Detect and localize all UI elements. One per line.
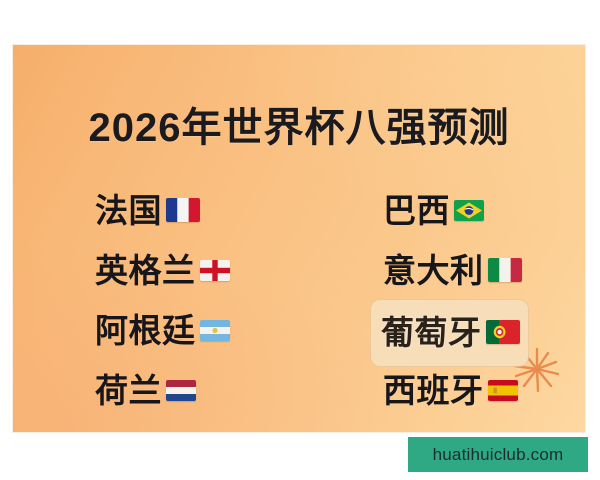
team-grid: 法国 巴西 <box>13 180 585 420</box>
team-name-label: 英格兰 <box>95 254 196 287</box>
flag-france-icon <box>166 198 200 222</box>
team-name-label: 意大利 <box>383 254 484 287</box>
team-name-label: 阿根廷 <box>95 314 196 347</box>
team-name-label: 法国 <box>95 194 162 227</box>
team-item-netherlands: 荷兰 <box>95 360 196 420</box>
flag-netherlands-icon <box>166 380 196 401</box>
team-item-argentina: 阿根廷 <box>95 300 230 360</box>
team-row: 荷兰 西班牙 <box>13 360 585 420</box>
flag-spain-icon <box>488 380 518 401</box>
watermark-badge: huatihuiclub.com <box>408 437 588 472</box>
team-name-label: 葡萄牙 <box>381 316 482 349</box>
team-name-label: 巴西 <box>383 194 450 227</box>
flag-brazil-icon <box>454 200 484 221</box>
team-name-label: 西班牙 <box>383 374 484 407</box>
team-item-italy: 意大利 <box>383 240 522 300</box>
flag-portugal-icon <box>486 320 520 344</box>
poster-panel: 2026年世界杯八强预测 法国 巴西 <box>13 45 585 432</box>
team-row: 阿根廷 葡萄牙 <box>13 300 585 360</box>
flag-england-icon <box>200 260 230 281</box>
team-item-spain: 西班牙 <box>383 360 518 420</box>
team-item-portugal: 葡萄牙 <box>371 300 528 366</box>
team-item-brazil: 巴西 <box>383 180 484 240</box>
page-title: 2026年世界杯八强预测 <box>13 108 585 148</box>
flag-argentina-icon <box>200 320 230 341</box>
flag-italy-icon <box>488 258 522 282</box>
team-name-label: 荷兰 <box>95 374 162 407</box>
team-row: 法国 巴西 <box>13 180 585 240</box>
team-item-england: 英格兰 <box>95 240 230 300</box>
watermark-url-label: huatihuiclub.com <box>433 445 564 465</box>
team-item-france: 法国 <box>95 180 200 240</box>
team-row: 英格兰 意大利 <box>13 240 585 300</box>
